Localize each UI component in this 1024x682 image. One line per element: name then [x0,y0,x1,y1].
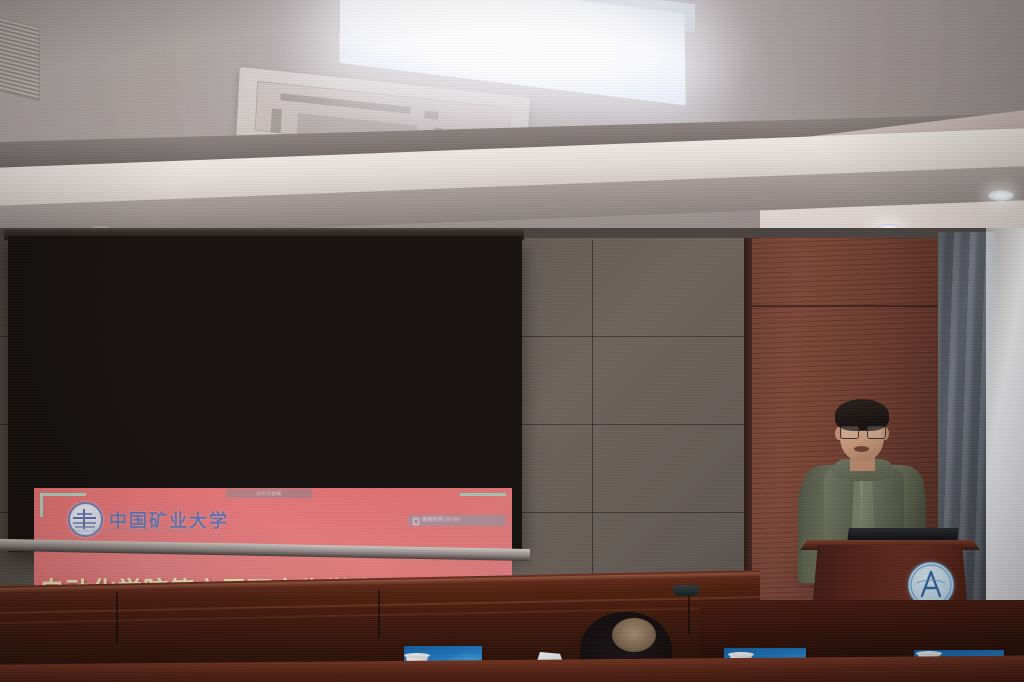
downlight-icon [988,190,1014,201]
desk-divider [116,592,118,644]
wall-seam [592,240,593,596]
paper-cup-rim [728,652,754,657]
slideshow-toolbar-right[interactable]: 放映时间 00:00 [408,515,506,526]
glasses-icon [840,426,884,437]
slide-corner-accent [40,493,43,517]
slide-corner-accent [460,493,506,496]
projector-screen: 中国矿业大学 CHINA UNIVERSITY OF MINING AND TE… [8,236,522,552]
university-name-en-label: CHINA UNIVERSITY OF MINING AND TECHNOLOG… [74,528,196,533]
desk-microphone-icon [673,585,699,596]
conference-room-photo: 中国矿业大学 CHINA UNIVERSITY OF MINING AND TE… [0,0,1024,682]
ceiling [0,0,1024,252]
ac-vane [424,110,438,119]
slideshow-toolbar-top[interactable]: 幻灯片放映 [226,489,312,498]
speaker-mouth [854,446,869,452]
attendee-scalp [612,618,656,652]
paper-cup-rim [916,651,942,656]
wall-vent-grille-icon [0,17,40,102]
paper-cup-rim [404,653,430,658]
ac-vane [271,108,282,133]
slide-corner-accent [40,493,86,496]
desk-divider [378,590,380,638]
wood-panel-seam [752,305,942,307]
sheer-curtain[interactable] [986,228,1024,662]
